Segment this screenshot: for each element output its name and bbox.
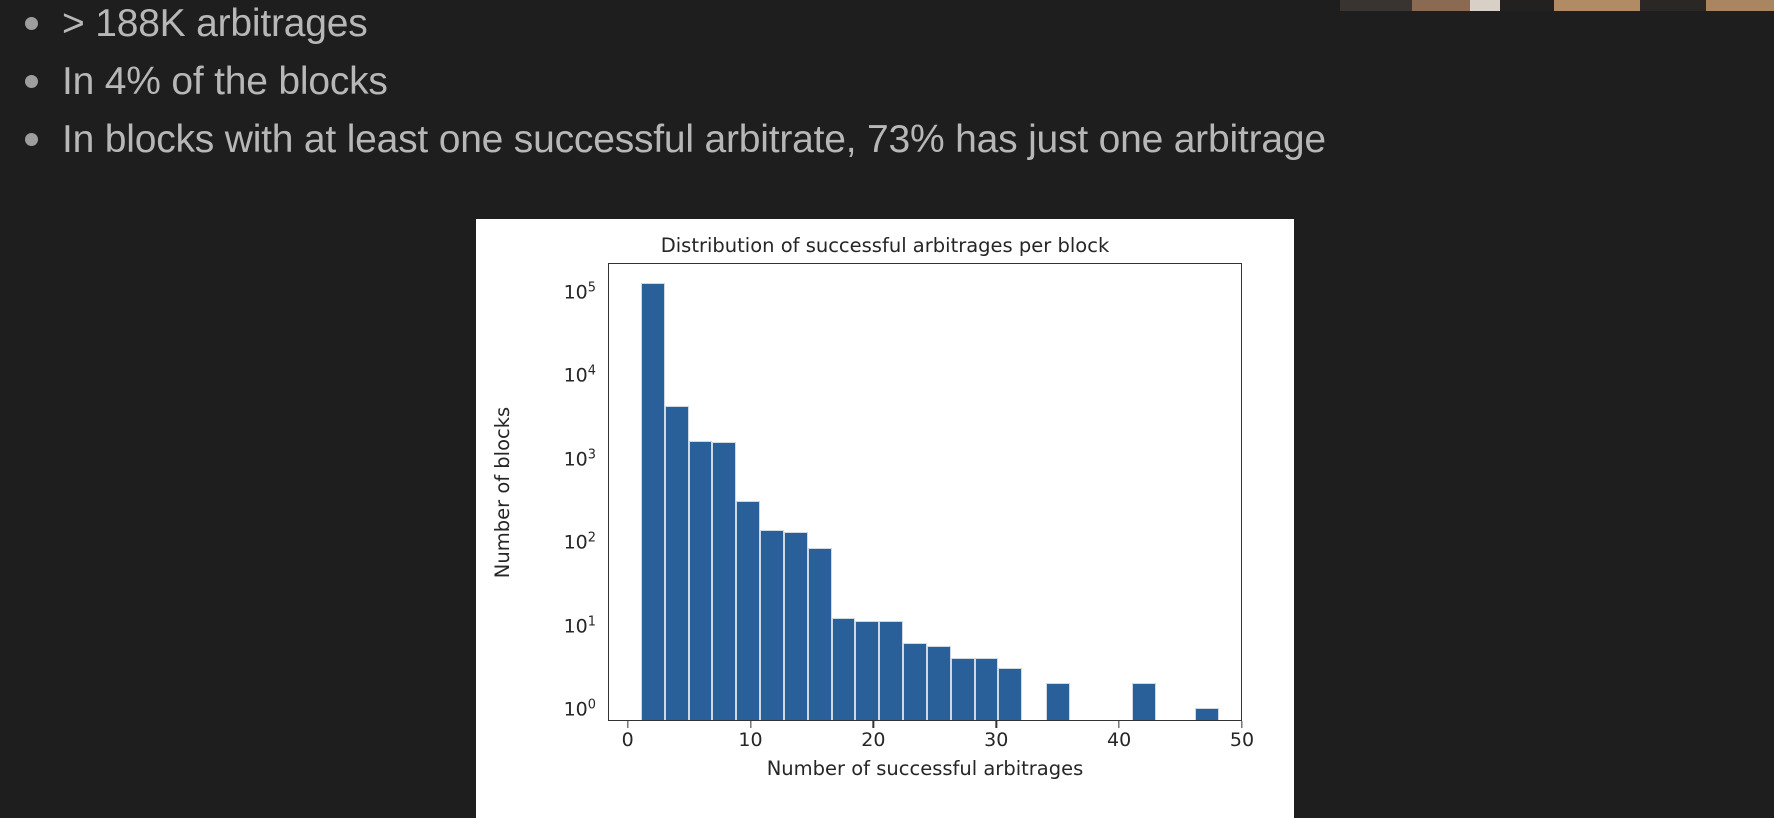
list-item: In 4% of the blocks	[0, 60, 1700, 118]
histogram-bar	[1132, 683, 1156, 720]
histogram-bar	[712, 442, 736, 720]
histogram-bar	[808, 548, 832, 720]
y-tick-label: 102	[564, 530, 596, 553]
presentation-slide: > 188K arbitrages In 4% of the blocks In…	[0, 0, 1774, 818]
x-axis-label: Number of successful arbitrages	[608, 757, 1242, 780]
bullet-list: > 188K arbitrages In 4% of the blocks In…	[0, 0, 1700, 176]
y-axis-label: Number of blocks	[490, 263, 516, 721]
x-tick-label: 40	[1107, 729, 1131, 751]
x-tick-mark	[750, 721, 751, 728]
histogram-bar	[975, 658, 999, 720]
histogram-bar	[903, 643, 927, 720]
plot-axes	[608, 263, 1242, 721]
x-tick-mark	[1241, 721, 1242, 728]
strip-warm	[1706, 0, 1774, 11]
histogram-figure: Distribution of successful arbitrages pe…	[476, 219, 1294, 818]
histogram-bar	[951, 658, 975, 720]
x-tick-label: 30	[984, 729, 1008, 751]
histogram-bar	[689, 441, 713, 720]
histogram-bar	[927, 646, 951, 720]
histogram-bar	[736, 501, 760, 720]
list-item: In blocks with at least one successful a…	[0, 118, 1700, 176]
x-tick-mark	[1118, 721, 1119, 728]
y-tick-label: 103	[564, 447, 596, 470]
histogram-bar	[641, 283, 665, 720]
bullet-text: > 188K arbitrages	[62, 2, 368, 46]
bullet-dot-icon	[0, 14, 62, 34]
x-tick-mark	[996, 721, 997, 728]
bars-container	[609, 264, 1241, 720]
y-tick-label: 101	[564, 614, 596, 637]
histogram-bar	[855, 621, 879, 720]
x-tick-mark	[627, 721, 628, 728]
list-item: > 188K arbitrages	[0, 2, 1700, 60]
histogram-bar	[760, 530, 784, 720]
histogram-bar	[879, 621, 903, 720]
x-tick-label: 20	[861, 729, 885, 751]
y-tick-label: 104	[564, 363, 596, 386]
x-tick-mark	[873, 721, 874, 728]
bullet-dot-icon	[0, 72, 62, 92]
y-tick-label: 105	[564, 280, 596, 303]
histogram-bar	[998, 668, 1022, 720]
histogram-bar	[665, 406, 689, 720]
bullet-text: In 4% of the blocks	[62, 60, 388, 104]
y-tick-label: 100	[564, 697, 596, 720]
x-tick-label: 0	[622, 729, 634, 751]
histogram-bar	[1195, 708, 1219, 720]
histogram-bar	[832, 618, 856, 720]
x-tick-label: 10	[738, 729, 762, 751]
y-axis-ticks: 100101102103104105	[556, 263, 608, 721]
x-tick-label: 50	[1230, 729, 1254, 751]
histogram-bar	[784, 532, 808, 720]
x-axis-ticks: 01020304050	[608, 721, 1242, 755]
histogram-bar	[1046, 683, 1070, 720]
chart-title: Distribution of successful arbitrages pe…	[476, 234, 1294, 257]
y-axis-label-text: Number of blocks	[492, 406, 515, 577]
bullet-dot-icon	[0, 130, 62, 150]
bullet-text: In blocks with at least one successful a…	[62, 118, 1326, 162]
